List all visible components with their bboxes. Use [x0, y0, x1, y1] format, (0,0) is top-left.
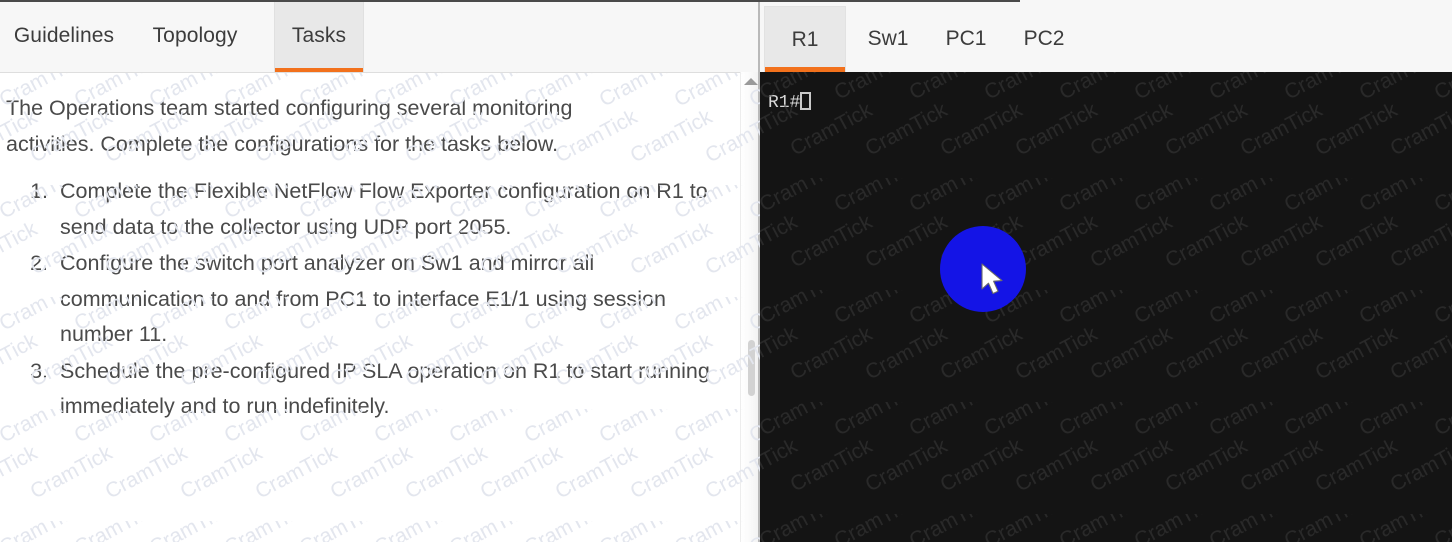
tab-device-r1-label: R1 [792, 28, 819, 52]
tab-device-pc2-label: PC2 [1024, 27, 1065, 51]
tab-topology[interactable]: Topology [136, 0, 254, 72]
tab-device-pc2[interactable]: PC2 [1006, 6, 1082, 72]
active-tab-underline [275, 68, 363, 72]
tab-device-sw1[interactable]: Sw1 [850, 6, 926, 72]
scrollbar-thumb[interactable] [748, 340, 755, 396]
tab-device-pc1-label: PC1 [946, 27, 987, 51]
active-tab-underline [765, 67, 845, 72]
device-console-panel: R1 Sw1 PC1 PC2 R1# [760, 0, 1452, 542]
intro-paragraph: The Operations team started configuring … [6, 91, 646, 162]
window-top-border [0, 0, 1020, 2]
chevron-up-icon[interactable] [744, 78, 758, 85]
instructions-panel: Guidelines Topology Tasks The Operations… [0, 0, 760, 542]
device-tabbar: R1 Sw1 PC1 PC2 [760, 0, 1452, 72]
tab-device-r1[interactable]: R1 [764, 6, 846, 72]
tab-guidelines[interactable]: Guidelines [0, 0, 128, 72]
instructions-tabbar: Guidelines Topology Tasks [0, 0, 760, 73]
watermark-overlay [760, 66, 1452, 542]
panel-divider [758, 0, 760, 542]
instructions-scrollbar[interactable] [740, 72, 760, 542]
instructions-body: The Operations team started configuring … [0, 73, 760, 542]
tasks-content: The Operations team started configuring … [0, 73, 760, 425]
list-item: Schedule the pre-configured IP SLA opera… [54, 354, 718, 425]
terminal-output: R1# [760, 66, 1452, 114]
terminal-console[interactable]: R1# [760, 66, 1452, 542]
terminal-cursor-icon [800, 92, 811, 110]
tab-tasks-label: Tasks [292, 24, 346, 48]
tab-device-pc1[interactable]: PC1 [928, 6, 1004, 72]
click-highlight-circle [940, 226, 1026, 312]
task-list: Complete the Flexible NetFlow Flow Expor… [6, 174, 718, 425]
tab-guidelines-label: Guidelines [14, 24, 114, 48]
tab-device-sw1-label: Sw1 [868, 27, 909, 51]
list-item: Complete the Flexible NetFlow Flow Expor… [54, 174, 718, 245]
terminal-prompt: R1# [768, 93, 800, 113]
tab-topology-label: Topology [153, 24, 238, 48]
tab-tasks[interactable]: Tasks [274, 0, 364, 72]
list-item: Configure the switch port analyzer on Sw… [54, 246, 718, 353]
lab-simulator-window: Guidelines Topology Tasks The Operations… [0, 0, 1452, 542]
